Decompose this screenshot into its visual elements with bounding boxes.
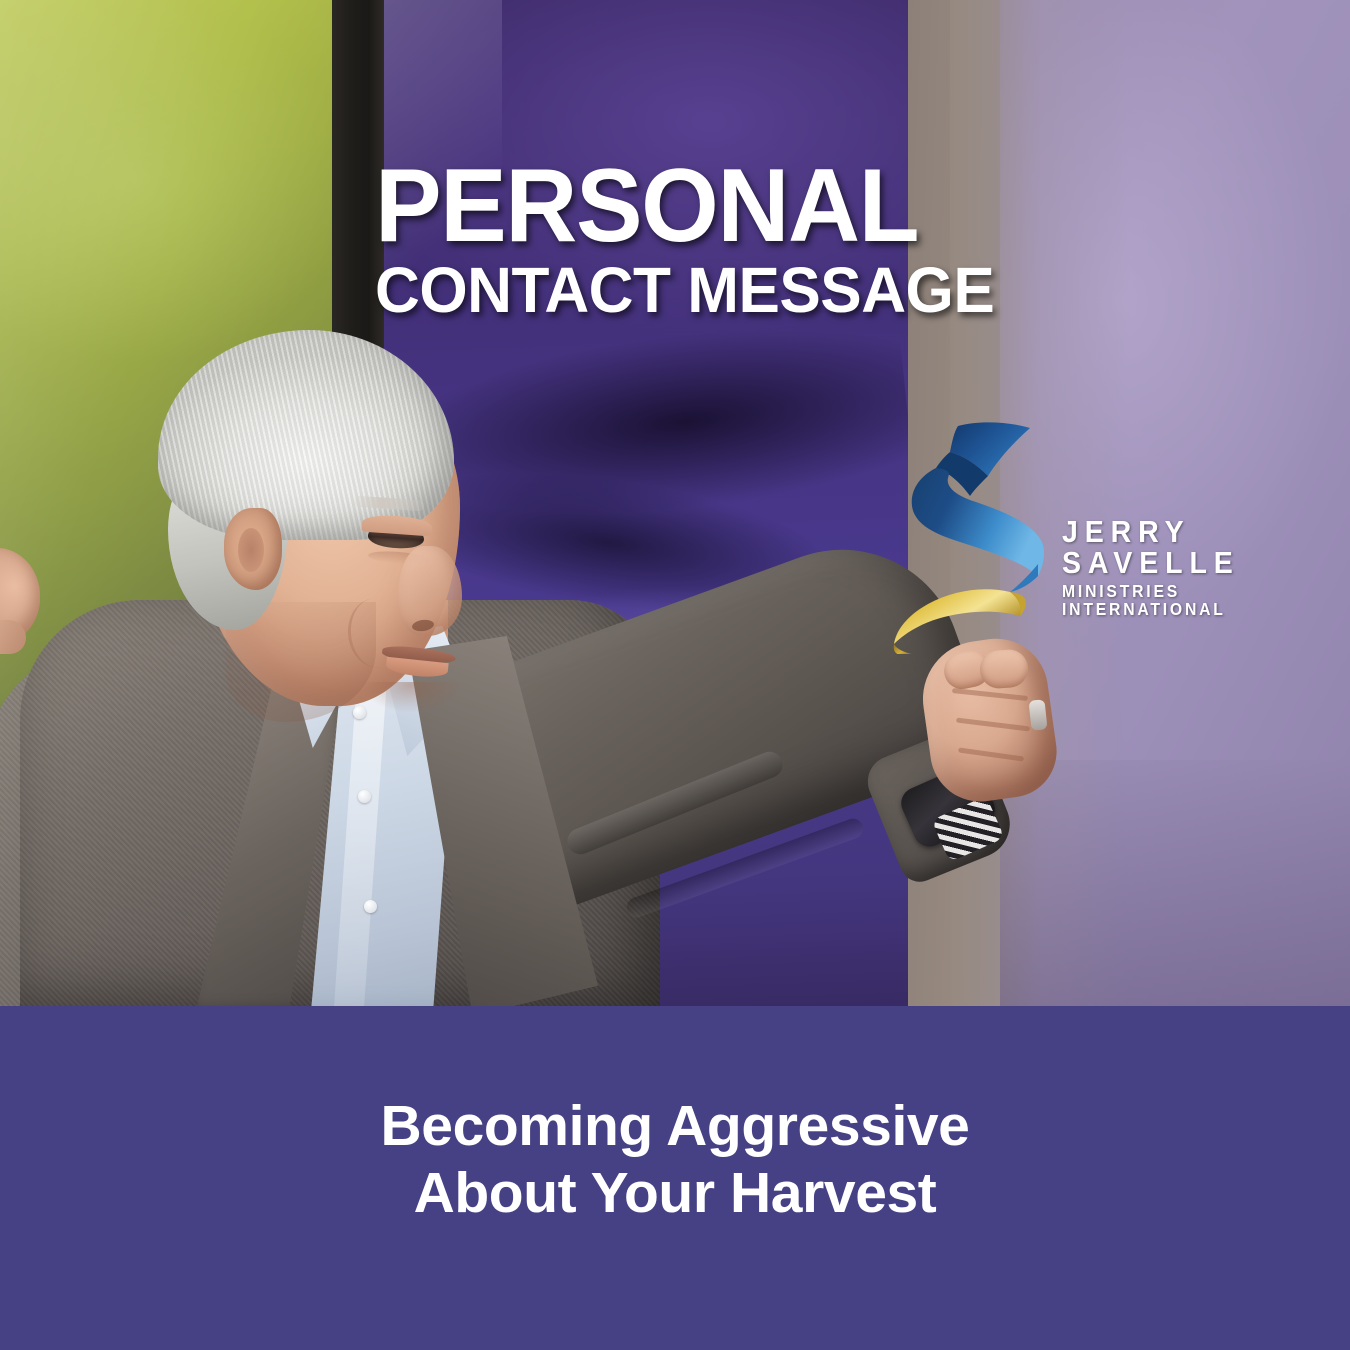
subtitle-line-2: About Your Harvest (381, 1160, 970, 1227)
title-line-1: PERSONAL (375, 160, 1009, 254)
shirt-button (364, 900, 377, 913)
finger-ring (1028, 699, 1047, 731)
ministry-logo: JERRY SAVELLE MINISTRIES INTERNATIONAL (880, 418, 1320, 658)
subtitle-banner: Becoming Aggressive About Your Harvest (0, 1006, 1350, 1350)
title-line-2: CONTACT MESSAGE (375, 260, 1015, 320)
s-ribbon-logo-icon (880, 418, 1070, 654)
logo-name: JERRY SAVELLE (1062, 516, 1301, 578)
shirt-button (358, 790, 371, 803)
ear-inner (238, 528, 264, 572)
logo-subtitle: MINISTRIES INTERNATIONAL (1062, 583, 1296, 618)
message-subtitle: Becoming Aggressive About Your Harvest (381, 1093, 970, 1264)
logo-wordmark: JERRY SAVELLE MINISTRIES INTERNATIONAL (1062, 516, 1322, 618)
cover-title: PERSONAL CONTACT MESSAGE (375, 160, 1035, 320)
album-cover: PERSONAL CONTACT MESSAGE (0, 0, 1350, 1350)
chin-shadow (362, 682, 460, 712)
subtitle-line-1: Becoming Aggressive (381, 1093, 970, 1160)
head (140, 330, 470, 710)
